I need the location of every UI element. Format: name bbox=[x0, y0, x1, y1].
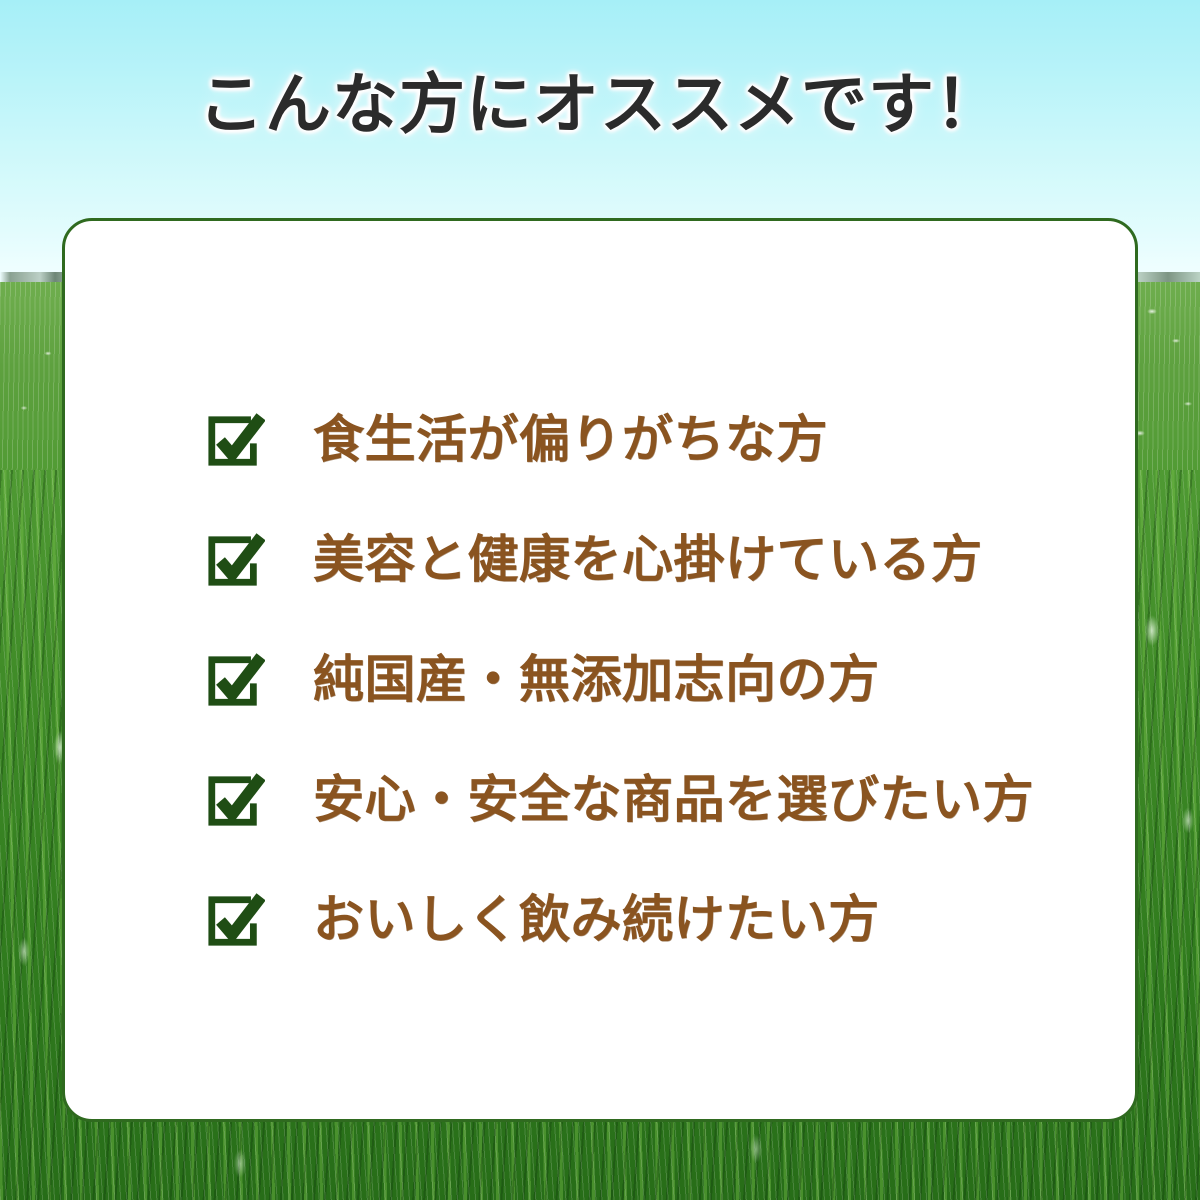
list-item: 安心・安全な商品を選びたい方 bbox=[205, 741, 1105, 861]
list-item: おいしく飲み続けたい方 bbox=[205, 861, 1105, 981]
list-item: 食生活が偏りがちな方 bbox=[205, 381, 1105, 501]
page-title: こんな方にオススメです！ bbox=[0, 72, 1200, 138]
list-item: 純国産・無添加志向の方 bbox=[205, 621, 1105, 741]
list-item-label: 安心・安全な商品を選びたい方 bbox=[313, 774, 1034, 828]
checkbox-checked-icon bbox=[205, 652, 265, 710]
list-item-label: 食生活が偏りがちな方 bbox=[313, 414, 828, 468]
list-item: 美容と健康を心掛けている方 bbox=[205, 501, 1105, 621]
list-item-label: 純国産・無添加志向の方 bbox=[313, 654, 880, 708]
checkbox-checked-icon bbox=[205, 772, 265, 830]
list-item-label: 美容と健康を心掛けている方 bbox=[313, 534, 983, 588]
checkbox-checked-icon bbox=[205, 532, 265, 590]
checkbox-checked-icon bbox=[205, 892, 265, 950]
checkbox-checked-icon bbox=[205, 412, 265, 470]
list-item-label: おいしく飲み続けたい方 bbox=[313, 894, 880, 948]
checklist: 食生活が偏りがちな方 美容と健康を心掛けている方 純国産・無添加志向の方 bbox=[205, 381, 1105, 981]
recommendation-card: 食生活が偏りがちな方 美容と健康を心掛けている方 純国産・無添加志向の方 bbox=[62, 218, 1138, 1122]
promo-banner: こんな方にオススメです！ 食生活が偏りがちな方 美容と健康を心掛けている方 bbox=[0, 0, 1200, 1200]
